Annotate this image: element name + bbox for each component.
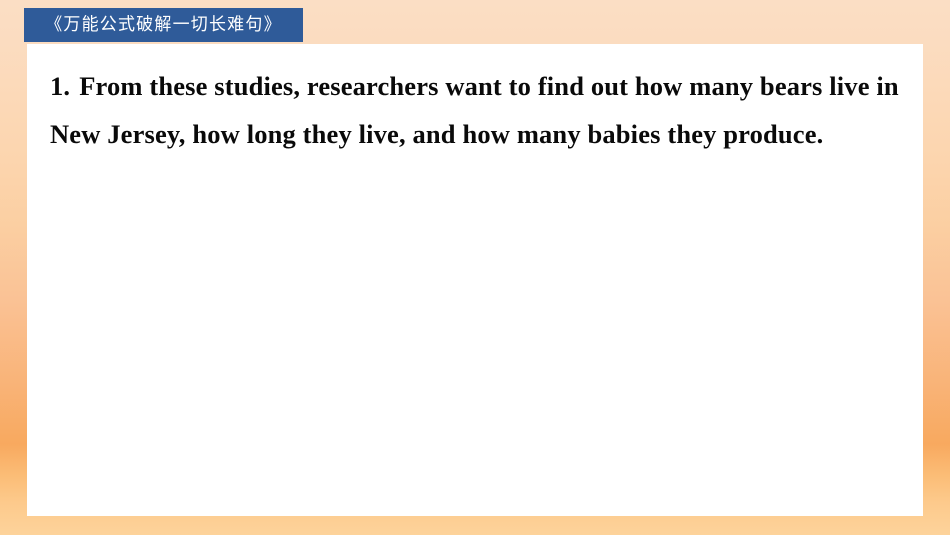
title-banner: 《万能公式破解一切长难句》 [24, 8, 303, 42]
sentence-line-2-text: New Jersey, how long they live, and how … [50, 119, 823, 149]
banner-title-text: 《万能公式破解一切长难句》 [45, 16, 282, 33]
sentence-block: 1.From these studies, researchers want t… [50, 62, 905, 158]
slide-canvas: 《万能公式破解一切长难句》 1.From these studies, rese… [0, 0, 950, 535]
content-card: 1.From these studies, researchers want t… [27, 44, 923, 516]
sentence-line-1-text: From these studies, researchers want to … [79, 71, 899, 101]
sentence-line-2: New Jersey, how long they live, and how … [50, 110, 905, 158]
item-number: 1. [50, 71, 70, 101]
sentence-line-1: 1.From these studies, researchers want t… [50, 62, 905, 110]
